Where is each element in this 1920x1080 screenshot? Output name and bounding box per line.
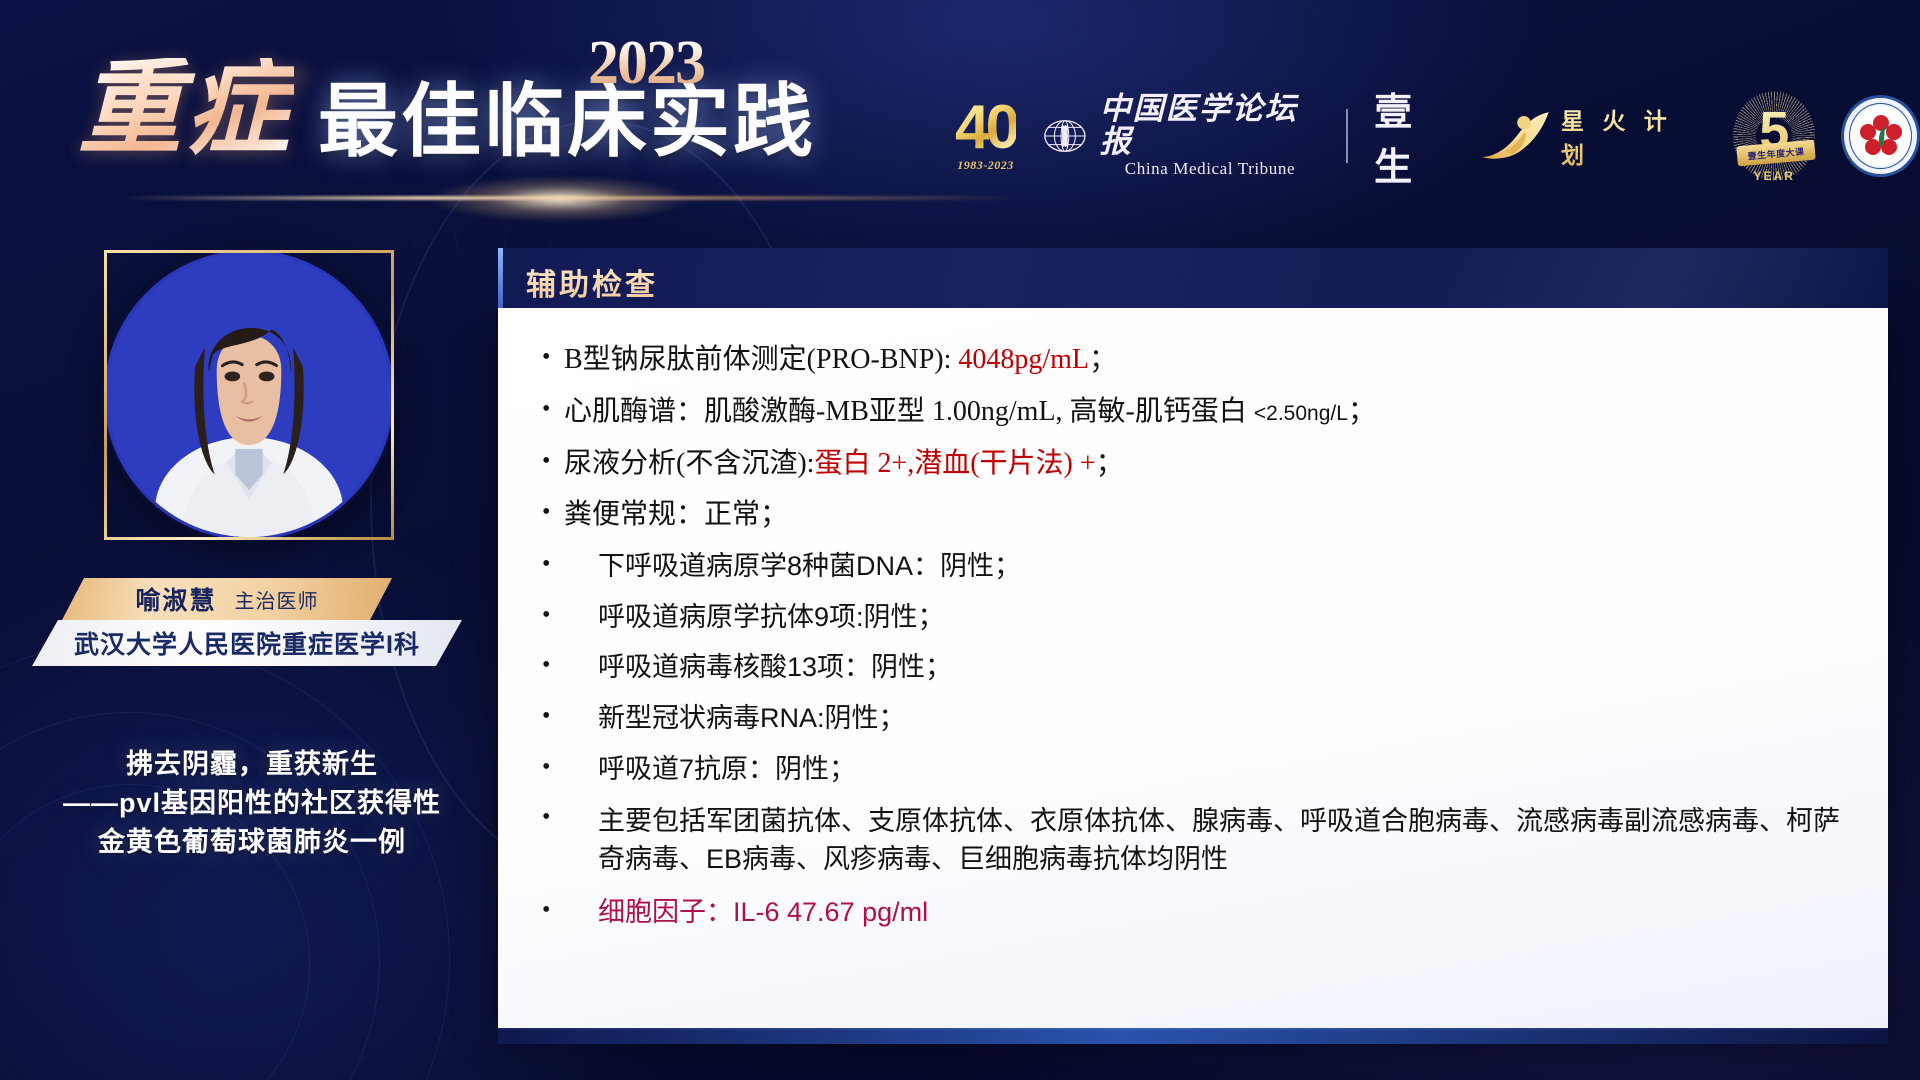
- list-item-cardiac-enzymes: • 心肌酶谱：肌酸激酶-MB亚型 1.00ng/mL, 高敏-肌钙蛋白 <2.5…: [542, 394, 1844, 430]
- bnp-label: B型钠尿肽前体测定(PRO-BNP):: [564, 344, 958, 375]
- list-item-text: 呼吸道7抗原：阴性；: [598, 752, 1844, 787]
- enzyme-label: 心肌酶谱：肌酸激酶-MB亚型 1.00ng/mL, 高敏-肌钙蛋白: [564, 396, 1254, 427]
- case-title-line-3: 金黄色葡萄球菌肺炎一例: [22, 823, 482, 862]
- bullet-icon: •: [542, 394, 564, 424]
- year-badge: 2023: [588, 28, 704, 99]
- list-item-stool: • 粪便常规：正常；: [542, 497, 1844, 533]
- bullet-icon: •: [542, 752, 598, 782]
- anniversary-number: 40: [955, 99, 1016, 157]
- university-seal-logo: [1841, 95, 1920, 177]
- brand-title: 重症 最佳临床实践: [78, 58, 816, 162]
- list-item-text: B型钠尿肽前体测定(PRO-BNP): 4048pg/mL；: [564, 342, 1844, 378]
- list-item-text: 粪便常规：正常；: [564, 497, 1844, 533]
- xinghuo-program-logo: 星 火 计 划: [1480, 102, 1707, 170]
- panel-footer-accent: [498, 1028, 1888, 1044]
- speaker-name: 喻淑慧: [135, 581, 216, 617]
- list-item-text: 呼吸道病毒核酸13项：阴性；: [598, 650, 1844, 685]
- list-item-text: 下呼吸道病原学8种菌DNA：阴性；: [598, 549, 1844, 584]
- bullet-icon: •: [542, 446, 564, 476]
- slide-background: 重症 最佳临床实践 2023 40 1983-2023: [0, 0, 1920, 1080]
- enzyme-small-value: <2.50ng/L: [1254, 402, 1348, 425]
- speaker-title: 主治医师: [235, 585, 319, 614]
- list-item-rt-rna13: • 呼吸道病毒核酸13项：阴性；: [542, 650, 1844, 685]
- bullet-icon: •: [542, 549, 598, 579]
- list-item-bnp: • B型钠尿肽前体测定(PRO-BNP): 4048pg/mL；: [542, 342, 1844, 378]
- list-item-text: 呼吸道病原学抗体9项:阴性；: [598, 600, 1844, 635]
- panel-body: • B型钠尿肽前体测定(PRO-BNP): 4048pg/mL； • 心肌酶谱：…: [498, 308, 1888, 1030]
- badge-ribbon-text: 壹生年度大课: [1747, 144, 1805, 162]
- list-item-covid-rna: • 新型冠状病毒RNA:阴性；: [542, 701, 1844, 736]
- speaker-photo-illustration: [107, 253, 391, 537]
- content-panel: 辅助检查 • B型钠尿肽前体测定(PRO-BNP): 4048pg/mL； • …: [498, 248, 1888, 1030]
- list-item-pathogen-panel-detail: • 主要包括军团菌抗体、支原体抗体、衣原体抗体、腺病毒、呼吸道合胞病毒、流感病毒…: [542, 802, 1844, 879]
- list-item-text: 主要包括军团菌抗体、支原体抗体、衣原体抗体、腺病毒、呼吸道合胞病毒、流感病毒副流…: [598, 802, 1844, 879]
- bullet-icon: •: [542, 650, 598, 680]
- bullet-icon: •: [542, 802, 598, 832]
- list-item-cytokine: • 细胞因子：IL-6 47.67 pg/ml: [542, 895, 1844, 930]
- case-title-line-1: 拂去阴霾，重获新生: [22, 745, 482, 784]
- globe-icon: [1042, 116, 1088, 156]
- anniversary-40-logo: 40 1983-2023: [955, 99, 1016, 173]
- xinghuo-label: 星 火 计 划: [1561, 102, 1707, 170]
- bullet-icon: •: [542, 600, 598, 630]
- list-item-text: 尿液分析(不含沉渣):蛋白 2+,潜血(干片法) +；: [564, 446, 1844, 482]
- speaker-avatar: [104, 250, 394, 540]
- anniversary-years: 1983-2023: [957, 158, 1014, 173]
- speaker-affiliation-banner: 武汉大学人民医院重症医学I科: [32, 620, 462, 666]
- china-medical-tribune-logo: 中国医学论坛报 China Medical Tribune: [1042, 93, 1320, 178]
- list-item-urinalysis: • 尿液分析(不含沉渣):蛋白 2+,潜血(干片法) +；: [542, 446, 1844, 482]
- enzyme-tail: ；: [1348, 396, 1376, 427]
- bullet-icon: •: [542, 497, 564, 527]
- bullet-icon: •: [542, 895, 598, 925]
- tribune-name-en: China Medical Tribune: [1125, 159, 1295, 179]
- seal-ring: [1849, 103, 1912, 169]
- flying-figure-icon: [1480, 108, 1551, 164]
- brand-secondary-text: 最佳临床实践: [318, 82, 816, 162]
- case-title-line-2: ——pvl基因阳性的社区获得性: [22, 784, 482, 823]
- bnp-tail: ；: [1089, 344, 1117, 375]
- five-year-badge: 5 壹生年度大课 YEAR: [1733, 91, 1815, 181]
- badge-year-label: YEAR: [1733, 169, 1815, 183]
- list-item-lrt-dna: • 下呼吸道病原学8种菌DNA：阴性；: [542, 549, 1844, 584]
- speaker-name-banner: 喻淑慧 主治医师: [62, 578, 392, 620]
- bnp-value: 4048pg/mL: [958, 344, 1089, 375]
- panel-header-bar: 辅助检查: [498, 248, 1888, 308]
- slide-header: 重症 最佳临床实践 2023 40 1983-2023: [0, 0, 1920, 210]
- list-item-text: 细胞因子：IL-6 47.67 pg/ml: [598, 895, 1844, 930]
- logo-divider: [1346, 109, 1348, 163]
- urine-value: 蛋白 2+,潜血(干片法) +: [814, 448, 1095, 479]
- urine-label: 尿液分析(不含沉渣):: [564, 448, 814, 479]
- speaker-affiliation: 武汉大学人民医院重症医学I科: [74, 625, 420, 661]
- urine-tail: ；: [1096, 448, 1124, 479]
- brand-primary-text: 重症: [78, 58, 294, 162]
- list-item-text: 心肌酶谱：肌酸激酶-MB亚型 1.00ng/mL, 高敏-肌钙蛋白 <2.50n…: [564, 394, 1844, 430]
- case-title: 拂去阴霾，重获新生 ——pvl基因阳性的社区获得性 金黄色葡萄球菌肺炎一例: [22, 745, 482, 862]
- findings-list: • B型钠尿肽前体测定(PRO-BNP): 4048pg/mL； • 心肌酶谱：…: [542, 342, 1844, 929]
- bullet-icon: •: [542, 701, 598, 731]
- tribune-text-block: 中国医学论坛报 China Medical Tribune: [1100, 93, 1320, 178]
- list-item-rt-antigen7: • 呼吸道7抗原：阴性；: [542, 752, 1844, 787]
- tribune-name-cn: 中国医学论坛报: [1100, 93, 1320, 158]
- list-item-text: 新型冠状病毒RNA:阴性；: [598, 701, 1844, 736]
- partner-logo-strip: 40 1983-2023 中国医学论坛报 China Medical Tribu…: [955, 88, 1920, 184]
- list-item-rt-antibody: • 呼吸道病原学抗体9项:阴性；: [542, 600, 1844, 635]
- bullet-icon: •: [542, 342, 564, 372]
- yisheng-logo-text: 壹生: [1374, 81, 1454, 191]
- section-title: 辅助检查: [526, 260, 658, 304]
